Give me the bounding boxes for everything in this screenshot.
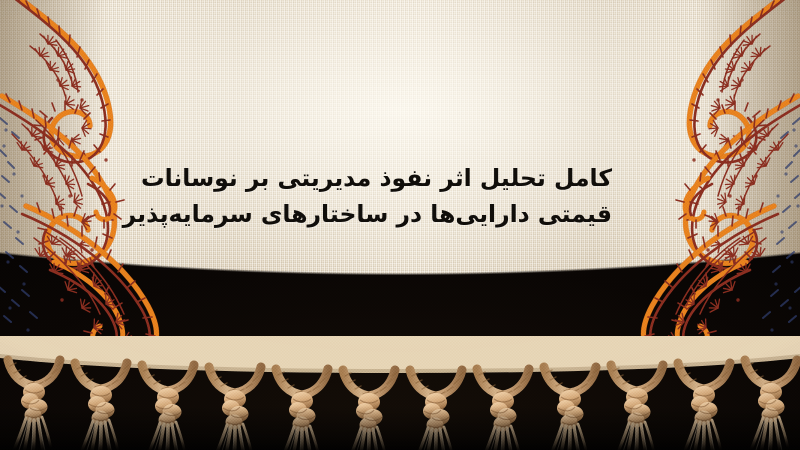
title-line-1: کامل تحلیل اثر نفوذ مدیریتی بر نوسانات <box>182 160 612 196</box>
title-line-2: قیمتی دارایی‌ها در ساختارهای سرمایه‌پذیر <box>182 196 612 232</box>
banner-canvas: .orange{fill:none;stroke:#e8821e;stroke-… <box>0 0 800 450</box>
banner-title: کامل تحلیل اثر نفوذ مدیریتی بر نوسانات ق… <box>182 160 612 232</box>
